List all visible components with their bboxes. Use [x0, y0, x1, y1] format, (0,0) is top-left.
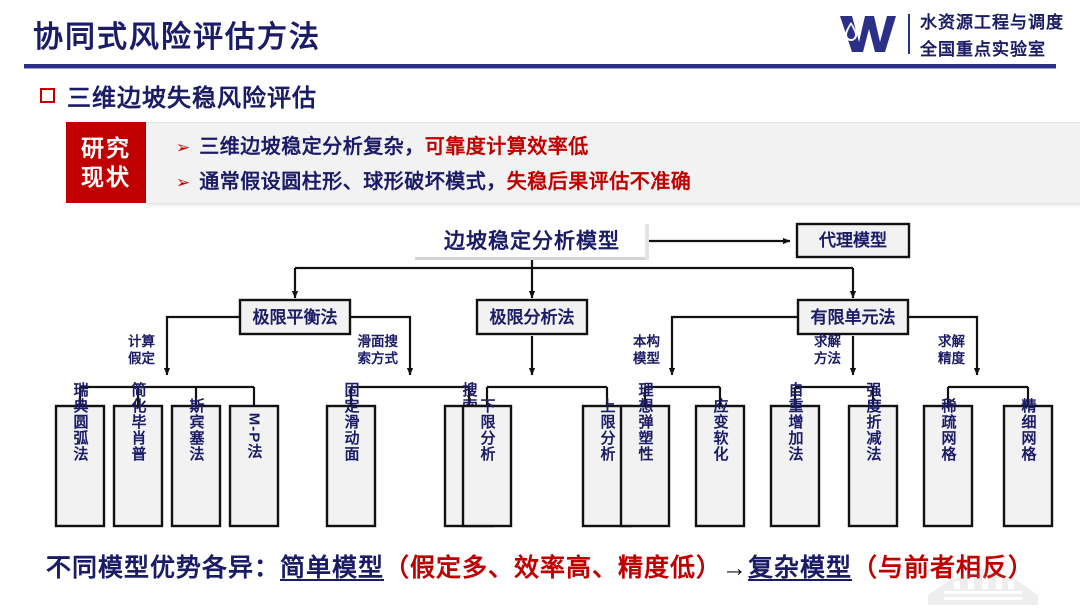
flow-leaf-node[interactable]: 应变软化	[696, 397, 744, 526]
flow-branch-label-calculation-assumption: 计算 假定	[128, 333, 155, 366]
status-tag-line-1: 研究	[81, 134, 131, 162]
subheading: 三维边坡失稳风险评估	[40, 78, 317, 113]
logo-divider	[908, 14, 910, 54]
slide-header: 协同式风险评估方法 水资源工程与调度 全国重点实验室	[0, 0, 1080, 70]
flow-branch-label-solution-accuracy: 求解 精度	[938, 333, 966, 366]
flow-leaf-label: M-P法	[246, 413, 263, 460]
branch-label-line-1: 求解	[814, 333, 842, 349]
flow-node-limit-equilibrium[interactable]: 极限平衡法	[240, 300, 350, 334]
flow-leaf-node[interactable]: 精细网格	[1004, 397, 1052, 526]
flow-node-root-label: 边坡稳定分析模型	[444, 229, 620, 253]
status-item-plain: 三维边坡稳定分析复杂，	[199, 136, 425, 158]
branch-label-line-2: 精度	[938, 350, 966, 366]
square-outline-bullet-icon	[40, 88, 55, 103]
flow-branch-label-solution-method: 求解 方法	[814, 333, 842, 366]
status-bullet-item: ➢ 通常假设圆柱形、球形破坏模式，失稳后果评估不准确	[146, 165, 1080, 194]
flow-leaf-node[interactable]: 下限分析	[463, 398, 511, 526]
flow-leaf-label: 简化毕肖普	[130, 381, 147, 462]
flow-leaf-label: 固定滑动面	[343, 382, 360, 462]
status-item-highlight: 可靠度计算效率低	[425, 136, 589, 158]
flow-leaf-node[interactable]: 强度折减法	[849, 382, 897, 526]
flow-node-limit-analysis[interactable]: 极限分析法	[477, 300, 587, 334]
flow-node-level1-label: 有限单元法	[811, 307, 896, 327]
branch-label-line-1: 计算	[128, 333, 155, 349]
status-item-highlight: 失稳后果评估不准确	[507, 171, 692, 193]
flow-branch-label-constitutive-model: 本构 模型	[633, 333, 661, 366]
arrow-bullet-icon: ➢	[176, 174, 190, 191]
flowchart-canvas: 边坡稳定分析模型 代理模型 极限平衡法 极限分析法 有限单元法	[0, 212, 1080, 537]
logo-line-2: 全国重点实验室	[920, 35, 1064, 60]
research-status-panel: 研究 现状 ➢ 三维边坡稳定分析复杂，可靠度计算效率低 ➢ 通常假设圆柱形、球形…	[66, 122, 1080, 203]
flow-leaf-label: 强度折减法	[865, 382, 882, 462]
conclusion-complex-model: 复杂模型	[748, 554, 852, 582]
branch-label-line-2: 方法	[814, 350, 842, 366]
flow-leaf-node[interactable]: 斯宾塞法	[172, 397, 220, 526]
flow-leaf-label: 斯宾塞法	[188, 397, 205, 462]
flow-leaf-node[interactable]: 瑞典圆弧法	[56, 381, 104, 526]
flow-leaf-label: 理想弹塑性	[637, 382, 655, 462]
flow-node-surrogate[interactable]: 代理模型	[797, 224, 909, 257]
flow-leaf-label: 瑞典圆弧法	[72, 381, 89, 462]
status-bullet-item: ➢ 三维边坡稳定分析复杂，可靠度计算效率低	[146, 130, 1080, 159]
branch-label-line-2: 模型	[633, 350, 661, 366]
building-watermark-icon	[908, 565, 1058, 609]
flow-leaf-label: 上限分析	[599, 398, 616, 462]
arrow-bullet-icon: ➢	[176, 139, 190, 156]
flow-leaf-node[interactable]: 稀疏网格	[924, 397, 972, 526]
flow-leaf-node[interactable]: 理想弹塑性	[621, 382, 669, 526]
page-title: 协同式风险评估方法	[33, 12, 321, 56]
flow-node-level1-label: 极限分析法	[490, 307, 575, 327]
flow-branch-label-slip-surface-search: 滑面搜 索方式	[358, 333, 399, 366]
link-fem-branch-1	[672, 317, 798, 375]
flow-node-root[interactable]: 边坡稳定分析模型	[415, 224, 649, 260]
branch-label-line-1: 本构	[633, 333, 660, 349]
flow-leaf-node[interactable]: 简化毕肖普	[114, 381, 162, 526]
status-item-text: 通常假设圆柱形、球形破坏模式，失稳后果评估不准确	[199, 165, 691, 194]
flow-leaf-label: 应变软化	[712, 397, 729, 462]
flow-leaf-label: 自重增加法	[787, 381, 805, 462]
research-status-tag: 研究 现状	[66, 122, 146, 203]
conclusion-lead: 不同模型优势各异：	[46, 554, 280, 582]
flow-node-surrogate-label: 代理模型	[818, 230, 887, 250]
title-rule-secondary	[24, 68, 1056, 69]
flow-leaf-node[interactable]: M-P法	[230, 406, 278, 526]
flow-leaf-label: 稀疏网格	[940, 397, 957, 462]
logo-line-1: 水资源工程与调度	[920, 8, 1064, 33]
branch-label-line-1: 滑面搜	[358, 333, 399, 349]
conclusion-simple-model: 简单模型	[280, 554, 384, 582]
conclusion-simple-desc: （假定多、效率高、精度低）	[384, 554, 722, 582]
subheading-text: 三维边坡失稳风险评估	[67, 78, 317, 113]
link-lep-branch-1	[167, 317, 240, 375]
logo-text: 水资源工程与调度 全国重点实验室	[920, 8, 1064, 60]
lab-logo: 水资源工程与调度 全国重点实验室	[838, 6, 1064, 62]
flow-leaf-node[interactable]: 自重增加法	[771, 381, 819, 526]
conclusion-arrow-icon: →	[722, 554, 748, 582]
slope-stability-flowchart: 边坡稳定分析模型 代理模型 极限平衡法 极限分析法 有限单元法	[0, 212, 1080, 537]
slide-root: 协同式风险评估方法 水资源工程与调度 全国重点实验室 三维边坡失稳风险评估 研究…	[0, 0, 1080, 611]
flow-leaf-label: 精细网格	[1020, 397, 1037, 462]
branch-label-line-1: 求解	[938, 333, 966, 349]
flow-leaf-label: 下限分析	[479, 398, 496, 462]
status-item-plain: 通常假设圆柱形、球形破坏模式，	[199, 171, 507, 193]
flow-node-level1-label: 极限平衡法	[253, 307, 338, 327]
flow-leaf-node[interactable]: 固定滑动面	[327, 382, 375, 526]
flow-node-finite-element[interactable]: 有限单元法	[798, 300, 908, 334]
status-item-text: 三维边坡稳定分析复杂，可靠度计算效率低	[199, 130, 589, 159]
branch-label-line-2: 索方式	[358, 350, 399, 366]
status-tag-line-2: 现状	[81, 163, 131, 191]
lab-w-logo-icon	[838, 12, 898, 56]
research-status-body: ➢ 三维边坡稳定分析复杂，可靠度计算效率低 ➢ 通常假设圆柱形、球形破坏模式，失…	[146, 122, 1080, 203]
branch-label-line-2: 假定	[128, 350, 155, 366]
